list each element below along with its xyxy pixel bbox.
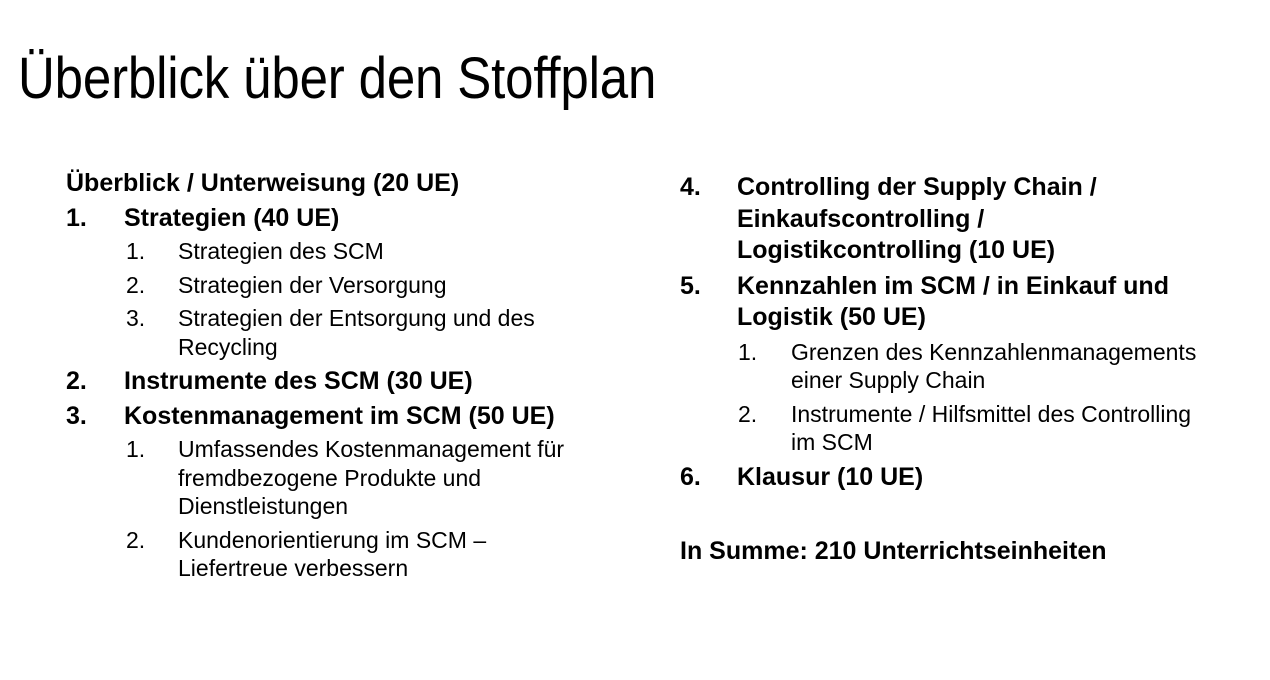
- outline-item-number: 3.: [66, 401, 124, 433]
- outline-subitem-label: Kundenorientierung im SCM – Liefertreue …: [178, 526, 566, 583]
- outline-subitem-label: Strategien des SCM: [178, 237, 566, 266]
- outline-subitem-number: 2.: [126, 526, 178, 555]
- total-summary-label: In Summe: 210 Unterrichtseinheiten: [680, 536, 1200, 568]
- outline-subitem-label: Instrumente / Hilfsmittel des Controllin…: [791, 400, 1200, 457]
- outline-subitem: 2. Kundenorientierung im SCM – Liefertre…: [126, 526, 566, 583]
- outline-item: 3. Kostenmanagement im SCM (50 UE): [66, 401, 566, 433]
- outline-subitem-label: Strategien der Versorgung: [178, 271, 566, 300]
- outline-subitem: 1. Strategien des SCM: [126, 237, 566, 266]
- outline-subitem-number: 1.: [126, 237, 178, 266]
- outline-subitem-label: Umfassendes Kostenmanagement für fremdbe…: [178, 435, 566, 521]
- outline-item: 4. Controlling der Supply Chain / Einkau…: [680, 172, 1200, 267]
- outline-item: 2. Instrumente des SCM (30 UE): [66, 366, 566, 398]
- outline-subitem-number: 1.: [738, 338, 791, 367]
- outline-subitem: 3. Strategien der Entsorgung und des Rec…: [126, 304, 566, 361]
- outline-item-label: Klausur (10 UE): [737, 462, 1200, 494]
- outline-item-label: Kostenmanagement im SCM (50 UE): [124, 401, 566, 433]
- left-column-heading-label: Überblick / Unterweisung (20 UE): [66, 168, 566, 200]
- slide-root: { "slide": { "title": "Überblick über de…: [0, 0, 1270, 680]
- outline-item-number: 5.: [680, 271, 737, 303]
- right-column: 4. Controlling der Supply Chain / Einkau…: [680, 0, 1200, 571]
- outline-subitem-number: 1.: [126, 435, 178, 464]
- outline-subitem: 2. Strategien der Versorgung: [126, 271, 566, 300]
- total-summary: In Summe: 210 Unterrichtseinheiten: [680, 536, 1200, 568]
- outline-item: 1. Strategien (40 UE): [66, 203, 566, 235]
- outline-item: 5. Kennzahlen im SCM / in Einkauf und Lo…: [680, 271, 1200, 334]
- outline-subitem-number: 2.: [738, 400, 791, 429]
- outline-subitem-number: 3.: [126, 304, 178, 333]
- outline-item-label: Kennzahlen im SCM / in Einkauf und Logis…: [737, 271, 1200, 334]
- outline-subitem: 1. Umfassendes Kostenmanagement für frem…: [126, 435, 566, 521]
- outline-subitem-label: Strategien der Entsorgung und des Recycl…: [178, 304, 566, 361]
- outline-subitem: 2. Instrumente / Hilfsmittel des Control…: [738, 400, 1200, 457]
- outline-item-number: 2.: [66, 366, 124, 398]
- outline-item-number: 1.: [66, 203, 124, 235]
- outline-item-label: Controlling der Supply Chain / Einkaufsc…: [737, 172, 1200, 267]
- outline-item-number: 4.: [680, 172, 737, 204]
- outline-item-number: 6.: [680, 462, 737, 494]
- outline-body: Überblick / Unterweisung (20 UE) 1. Stra…: [0, 0, 1270, 680]
- outline-subitem-number: 2.: [126, 271, 178, 300]
- outline-item: 6. Klausur (10 UE): [680, 462, 1200, 494]
- left-column-heading: Überblick / Unterweisung (20 UE): [66, 168, 566, 200]
- outline-item-label: Instrumente des SCM (30 UE): [124, 366, 566, 398]
- left-column: Überblick / Unterweisung (20 UE) 1. Stra…: [66, 0, 566, 588]
- outline-subitem-label: Grenzen des Kennzahlenmanagements einer …: [791, 338, 1200, 395]
- outline-subitem: 1. Grenzen des Kennzahlenmanagements ein…: [738, 338, 1200, 395]
- outline-item-label: Strategien (40 UE): [124, 203, 566, 235]
